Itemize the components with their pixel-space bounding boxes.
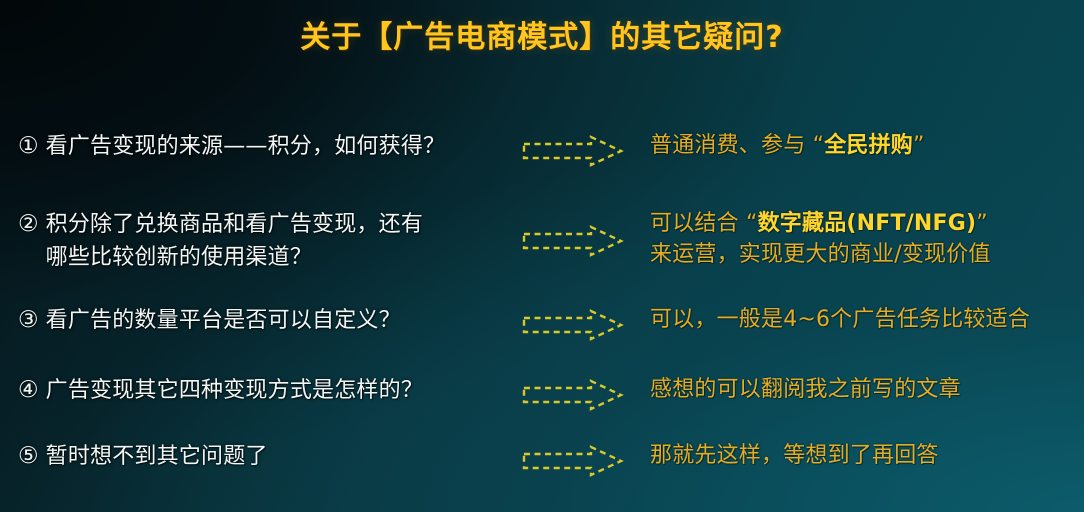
answer-cell: 可以，一般是4~6个广告任务比较适合	[646, 304, 1084, 335]
question-text: 广告变现其它四种变现方式是怎样的？	[46, 374, 423, 407]
item-number: ⑤	[18, 440, 39, 473]
dashed-right-arrow-icon	[500, 208, 646, 258]
answer-text: 那就先这样，等想到了再回答	[650, 440, 1084, 471]
question-line-1: 看广告变现的来源——积分，如何获得？	[46, 134, 446, 159]
answer-line-1-post: ”	[913, 133, 925, 158]
answer-line-1-pre: 普通消费、参与 “	[650, 133, 824, 158]
question-text: 积分除了兑换商品和看广告变现，还有 哪些比较创新的使用渠道？	[46, 208, 423, 274]
question-text: 暂时想不到其它问题了	[46, 440, 268, 473]
question-line-1: 看广告的数量平台是否可以自定义？	[46, 308, 401, 333]
answer-cell: 普通消费、参与 “全民拼购”	[646, 130, 1084, 161]
question-line-1: 广告变现其它四种变现方式是怎样的？	[46, 378, 423, 403]
answer-line-1-pre: 可以结合 “	[650, 211, 758, 236]
item-number: ①	[18, 130, 39, 163]
answer-cell: 感想的可以翻阅我之前写的文章	[646, 374, 1084, 405]
answer-line-2: 来运营，实现更大的商业/变现价值	[650, 239, 1084, 270]
list-item: ⑤ 暂时想不到其它问题了 那就先这样，等想到了再回答	[0, 440, 1084, 478]
list-item: ③ 看广告的数量平台是否可以自定义？ 可以，一般是4~6个广告任务比较适合	[0, 304, 1084, 342]
answer-cell: 那就先这样，等想到了再回答	[646, 440, 1084, 471]
answer-cell: 可以结合 “数字藏品(NFT/NFG)” 来运营，实现更大的商业/变现价值	[646, 208, 1084, 270]
answer-line-1-pre: 感想的可以翻阅我之前写的文章	[650, 377, 961, 402]
dashed-right-arrow-icon	[500, 130, 646, 168]
question-text: 看广告变现的来源——积分，如何获得？	[46, 130, 446, 163]
dashed-right-arrow-icon	[500, 304, 646, 342]
question-text: 看广告的数量平台是否可以自定义？	[46, 304, 401, 337]
page-title: 关于【广告电商模式】的其它疑问?	[0, 12, 1084, 56]
item-number: ②	[18, 208, 39, 241]
question-line-1: 暂时想不到其它问题了	[46, 444, 268, 469]
question-cell: ④ 广告变现其它四种变现方式是怎样的？	[0, 374, 500, 407]
answer-text: 可以结合 “数字藏品(NFT/NFG)” 来运营，实现更大的商业/变现价值	[650, 208, 1084, 270]
answer-text: 感想的可以翻阅我之前写的文章	[650, 374, 1084, 405]
question-line-2: 哪些比较创新的使用渠道？	[46, 241, 423, 274]
list-item: ② 积分除了兑换商品和看广告变现，还有 哪些比较创新的使用渠道？ 可以结合 “数…	[0, 208, 1084, 274]
answer-highlight: 全民拼购	[824, 133, 913, 158]
answer-highlight: 数字藏品(NFT/NFG)	[758, 211, 977, 236]
answer-line-1-pre: 那就先这样，等想到了再回答	[650, 443, 939, 468]
list-item: ① 看广告变现的来源——积分，如何获得？ 普通消费、参与 “全民拼购”	[0, 130, 1084, 168]
dashed-right-arrow-icon	[500, 440, 646, 478]
list-item: ④ 广告变现其它四种变现方式是怎样的？ 感想的可以翻阅我之前写的文章	[0, 374, 1084, 412]
item-number: ④	[18, 374, 39, 407]
question-cell: ① 看广告变现的来源——积分，如何获得？	[0, 130, 500, 163]
answer-line-1-post: ”	[976, 211, 988, 236]
answer-text: 普通消费、参与 “全民拼购”	[650, 130, 1084, 161]
slide-canvas: 关于【广告电商模式】的其它疑问? ① 看广告变现的来源——积分，如何获得？ 普通…	[0, 0, 1084, 512]
qa-list: ① 看广告变现的来源——积分，如何获得？ 普通消费、参与 “全民拼购” ②	[0, 108, 1084, 512]
question-cell: ③ 看广告的数量平台是否可以自定义？	[0, 304, 500, 337]
answer-text: 可以，一般是4~6个广告任务比较适合	[650, 304, 1084, 335]
question-cell: ⑤ 暂时想不到其它问题了	[0, 440, 500, 473]
item-number: ③	[18, 304, 39, 337]
question-cell: ② 积分除了兑换商品和看广告变现，还有 哪些比较创新的使用渠道？	[0, 208, 500, 274]
dashed-right-arrow-icon	[500, 374, 646, 412]
answer-line-1-pre: 可以，一般是4~6个广告任务比较适合	[650, 307, 1030, 332]
question-line-1: 积分除了兑换商品和看广告变现，还有	[46, 212, 423, 237]
